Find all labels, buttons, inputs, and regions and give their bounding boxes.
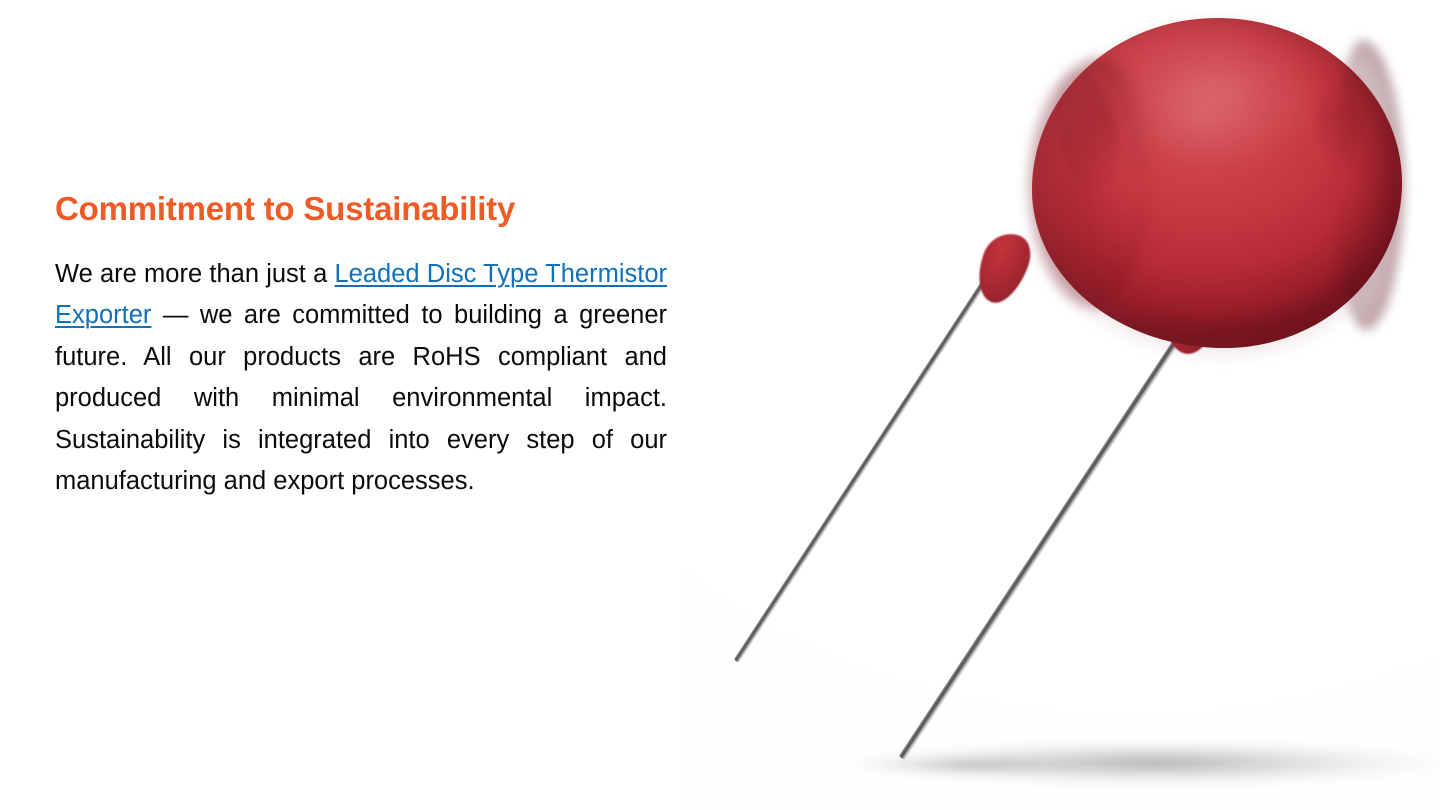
page-title: Commitment to Sustainability	[55, 190, 667, 228]
thermistor-disc-body	[1032, 18, 1402, 348]
content-text-block: Commitment to Sustainability We are more…	[55, 190, 667, 503]
disc-surface-texture-right	[1318, 76, 1362, 166]
product-photo	[680, 0, 1440, 810]
disc-specular-highlight	[1110, 34, 1320, 164]
paragraph-lead-text: We are more than just a	[55, 260, 334, 288]
paragraph-rest-text: — we are committed to building a greener…	[55, 301, 667, 495]
body-paragraph: We are more than just a Leaded Disc Type…	[55, 254, 667, 503]
slide-canvas: Commitment to Sustainability We are more…	[0, 0, 1440, 810]
product-drop-shadow-secondary	[850, 752, 1150, 778]
